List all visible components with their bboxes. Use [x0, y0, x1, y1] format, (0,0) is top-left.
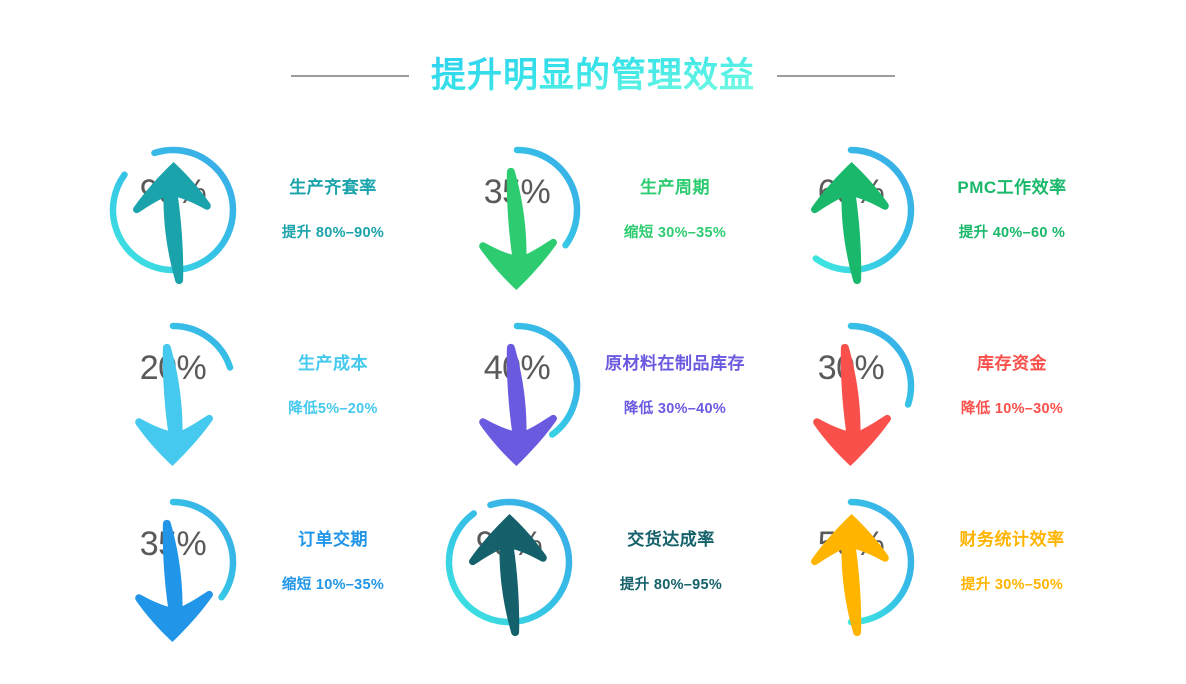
header-rule-left [291, 75, 409, 77]
metric-subtitle: 提升 80%–90% [282, 225, 384, 242]
arrow-up-icon [100, 213, 246, 239]
metric-texts: PMC工作效率提升 40%–60 % [924, 178, 1106, 243]
dial-center: 50% [778, 489, 924, 635]
arrow-down-icon [100, 565, 246, 591]
dial-center: 95% [436, 489, 582, 635]
metric-dial: 60% [778, 137, 924, 283]
metric-subtitle: 提升 40%–60 % [959, 225, 1065, 242]
metric-card: 35% 生产周期缩短 30%–35% [426, 122, 766, 298]
page-header: 提升明显的管理效益 [0, 52, 1186, 100]
metric-dial: 95% [436, 489, 582, 635]
metric-subtitle: 提升 30%–50% [961, 577, 1063, 594]
arrow-down-icon [100, 389, 246, 415]
metric-subtitle: 降低5%–20% [288, 401, 377, 418]
dial-center: 30% [778, 313, 924, 459]
metric-title: 原材料在制品库存 [605, 354, 745, 374]
metric-texts: 财务统计效率提升 30%–50% [924, 530, 1106, 595]
metric-subtitle: 缩短 10%–35% [282, 577, 384, 594]
dial-center: 60% [778, 137, 924, 283]
arrow-down-icon [444, 389, 590, 415]
metric-dial: 30% [778, 313, 924, 459]
metric-card: 40% 原材料在制品库存降低 30%–40% [426, 298, 766, 474]
metric-title: 生产周期 [640, 178, 710, 198]
dial-center: 40% [444, 313, 590, 459]
page-title: 提升明显的管理效益 [431, 55, 755, 98]
metric-dial: 35% [444, 137, 590, 283]
metric-texts: 订单交期缩短 10%–35% [246, 530, 426, 595]
metric-texts: 原材料在制品库存降低 30%–40% [590, 354, 766, 419]
metric-subtitle: 缩短 30%–35% [624, 225, 726, 242]
metric-card: 50% 财务统计效率提升 30%–50% [766, 474, 1106, 650]
metric-title: PMC工作效率 [957, 178, 1066, 198]
dial-center: 35% [444, 137, 590, 283]
arrow-down-icon [778, 389, 924, 415]
metric-dial: 20% [100, 313, 246, 459]
metric-texts: 生产周期缩短 30%–35% [590, 178, 766, 243]
metric-dial: 50% [778, 489, 924, 635]
metric-title: 库存资金 [977, 354, 1047, 374]
metric-card: 95% 交货达成率提升 80%–95% [426, 474, 766, 650]
metric-subtitle: 提升 80%–95% [620, 577, 722, 594]
metric-texts: 生产成本降低5%–20% [246, 354, 426, 419]
metric-card: 35% 订单交期缩短 10%–35% [86, 474, 426, 650]
metric-title: 生产齐套率 [289, 178, 377, 198]
metric-dial: 90% [100, 137, 246, 283]
metric-texts: 库存资金降低 10%–30% [924, 354, 1106, 419]
metric-title: 生产成本 [298, 354, 368, 374]
arrow-down-icon [444, 213, 590, 239]
metric-card: 20% 生产成本降低5%–20% [86, 298, 426, 474]
metric-title: 财务统计效率 [960, 530, 1065, 550]
header-rule-right [777, 75, 895, 77]
metric-title: 交货达成率 [627, 530, 715, 550]
metric-title: 订单交期 [298, 530, 368, 550]
metric-subtitle: 降低 30%–40% [624, 401, 726, 418]
metric-card: 30% 库存资金降低 10%–30% [766, 298, 1106, 474]
metric-card: 60% PMC工作效率提升 40%–60 % [766, 122, 1106, 298]
metric-subtitle: 降低 10%–30% [961, 401, 1063, 418]
metrics-grid: 90% 生产齐套率提升 80%–90% 35% 生产周期缩短 30%–35% [86, 122, 1106, 650]
metric-card: 90% 生产齐套率提升 80%–90% [86, 122, 426, 298]
metric-dial: 40% [444, 313, 590, 459]
dial-center: 35% [100, 489, 246, 635]
arrow-up-icon [778, 565, 924, 591]
dial-center: 20% [100, 313, 246, 459]
metric-dial: 35% [100, 489, 246, 635]
arrow-up-icon [436, 565, 582, 591]
arrow-up-icon [778, 213, 924, 239]
metric-texts: 生产齐套率提升 80%–90% [246, 178, 426, 243]
metric-texts: 交货达成率提升 80%–95% [582, 530, 766, 595]
dial-center: 90% [100, 137, 246, 283]
